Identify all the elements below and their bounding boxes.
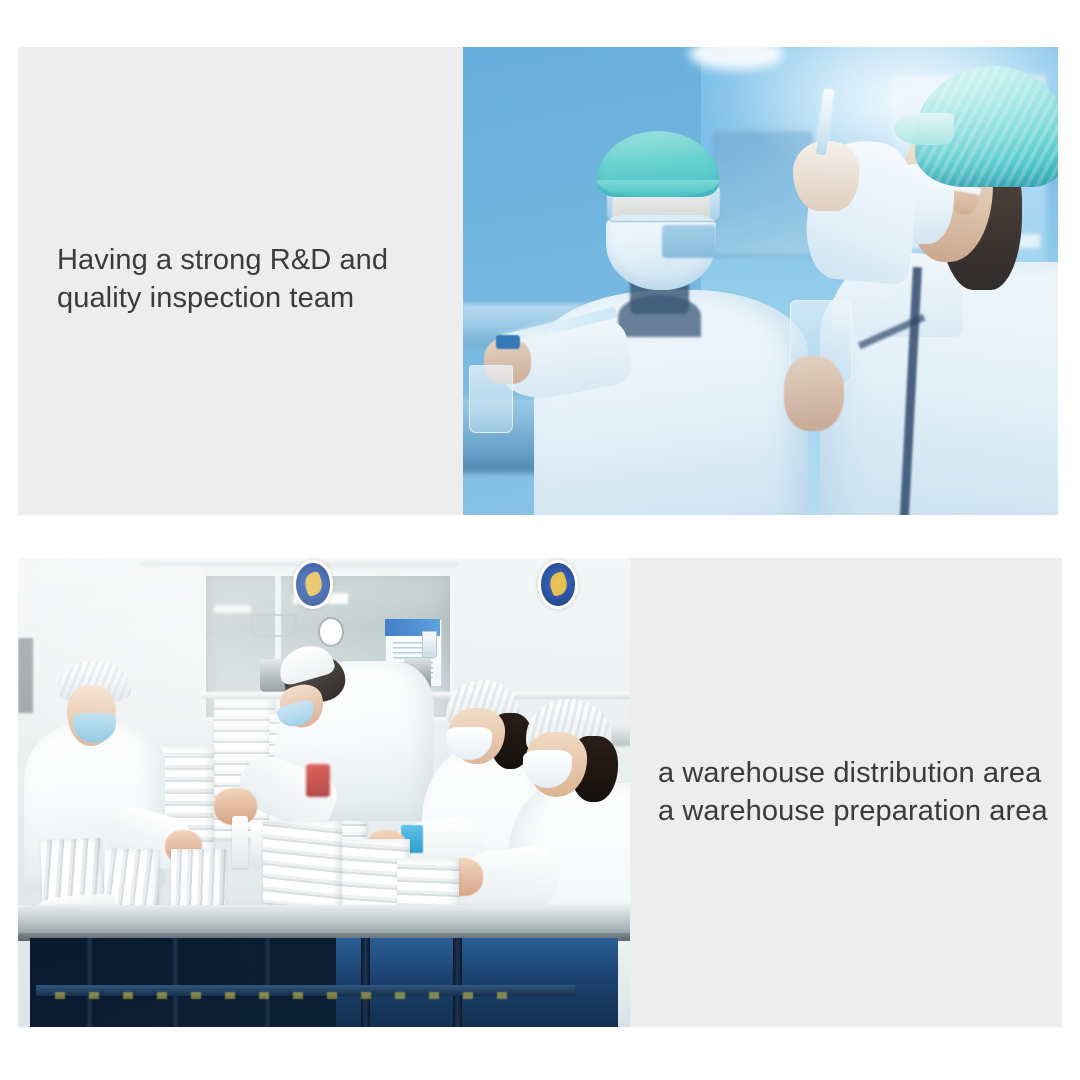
cleanroom-window-light-2 xyxy=(214,605,251,613)
worktable-leg xyxy=(171,938,180,1027)
bottom-caption-cell: a warehouse distribution area a warehous… xyxy=(630,558,1062,1027)
wall-logo-icon xyxy=(293,560,333,608)
technician-left-mask-band xyxy=(662,225,716,258)
wall-clock-icon xyxy=(318,617,344,647)
technician-right-lower-hand xyxy=(784,356,844,431)
top-caption-text: Having a strong R&D and quality inspecti… xyxy=(18,242,388,319)
cleanroom-hood xyxy=(251,614,298,637)
shelf-vial xyxy=(422,631,437,659)
rd-quality-inspection-lab-photo xyxy=(463,47,1058,515)
panel-top: Having a strong R&D and quality inspecti… xyxy=(18,47,1058,515)
bottom-photo-cell xyxy=(18,558,630,1027)
top-photo-cell xyxy=(463,47,1058,515)
lab-test-tube-cap xyxy=(496,335,520,349)
panel-bottom: a warehouse distribution area a warehous… xyxy=(18,558,1062,1027)
worktable-leg xyxy=(85,938,94,1027)
wall-logo-2-icon xyxy=(538,560,578,608)
cleanroom-wall-strip xyxy=(18,638,33,713)
worktable-leg xyxy=(361,938,370,1027)
top-caption-cell: Having a strong R&D and quality inspecti… xyxy=(18,47,463,515)
box-stack xyxy=(263,821,343,915)
technician-right-hairnet-brim xyxy=(894,113,954,146)
bottom-caption-text: a warehouse distribution area a warehous… xyxy=(630,755,1048,830)
steel-worktable-top xyxy=(18,905,630,935)
floor-yellow-markings xyxy=(55,992,520,1000)
worktable-leg xyxy=(453,938,462,1027)
lab-beaker xyxy=(469,365,513,433)
lab-ceiling-light xyxy=(689,47,784,70)
warehouse-packaging-cleanroom-photo xyxy=(18,558,630,1027)
technician-left-collar xyxy=(618,295,701,337)
product-bottle xyxy=(232,816,248,868)
worktable-frame-shadow xyxy=(30,938,336,1027)
worktable-leg xyxy=(263,938,272,1027)
worker-b-red-item xyxy=(306,764,330,797)
